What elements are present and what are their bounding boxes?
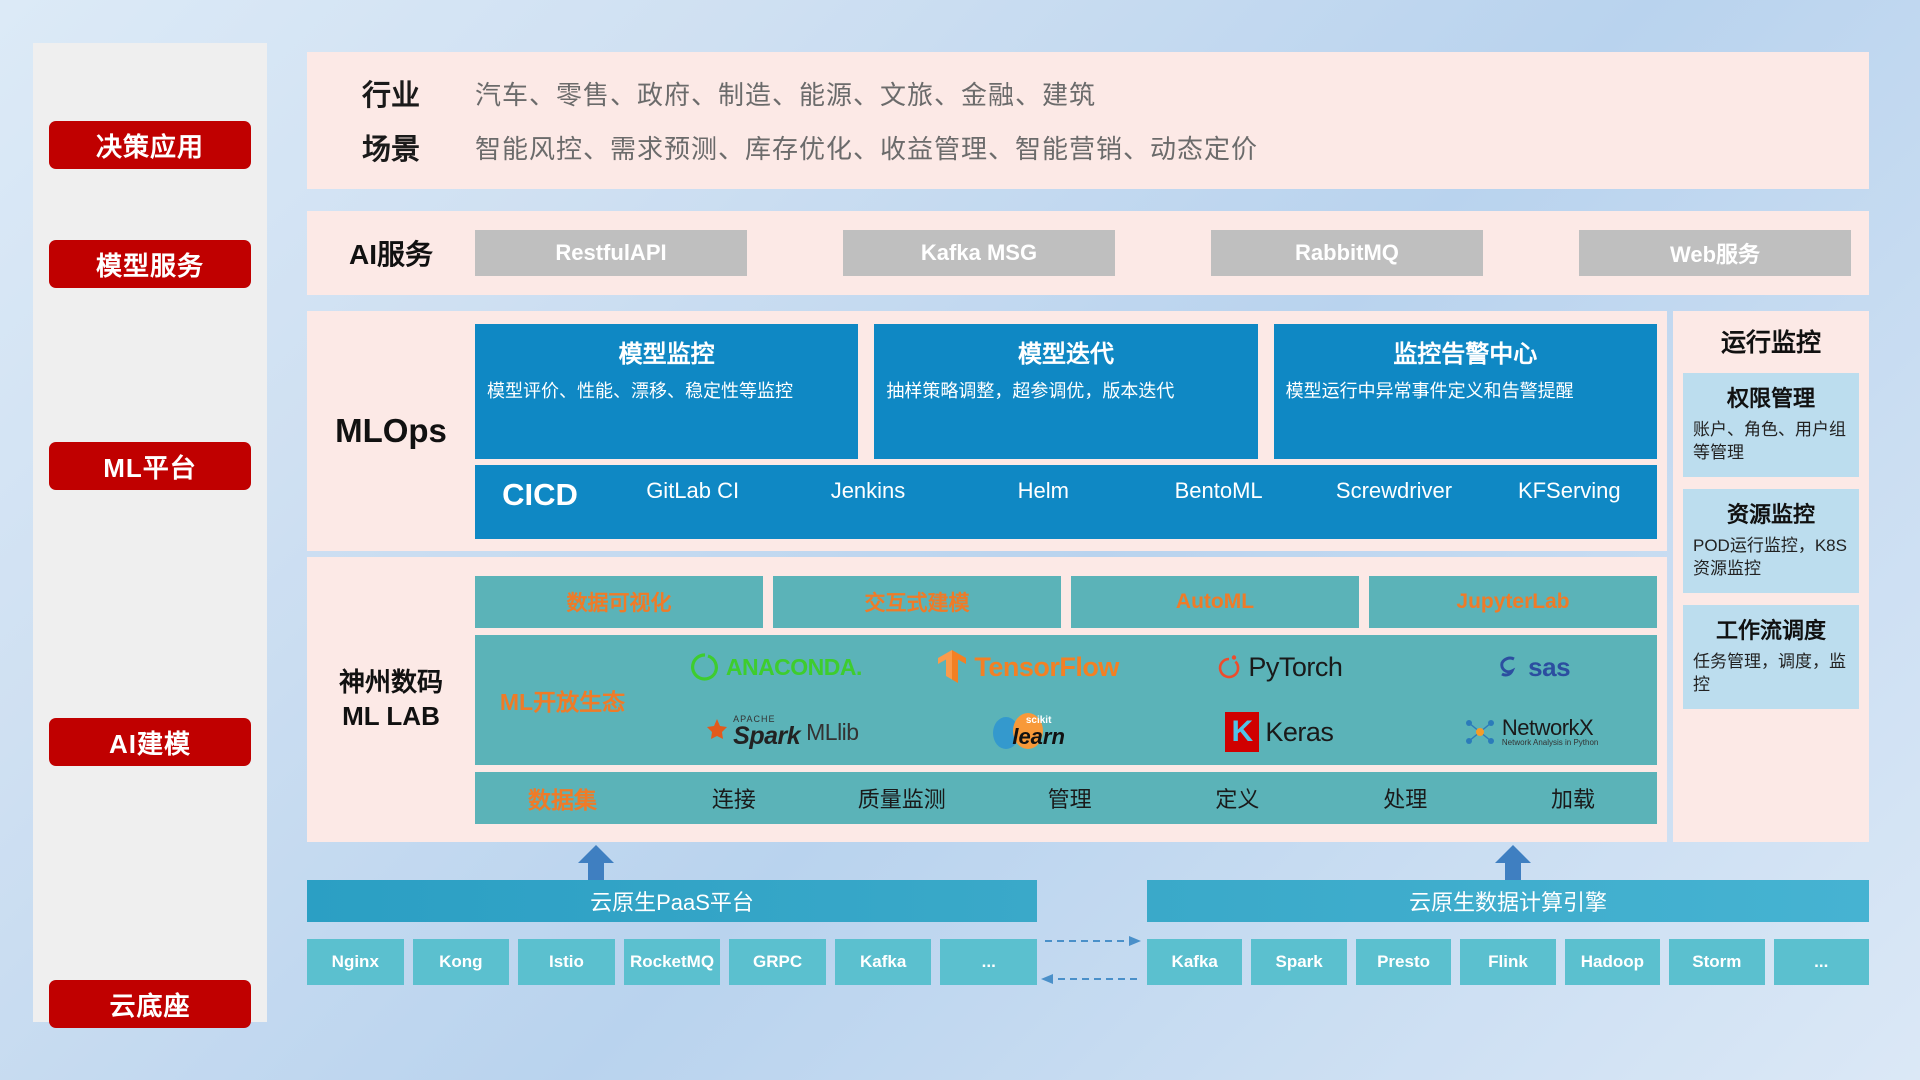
industry-scenario-band: 行业 汽车、零售、政府、制造、能源、文旅、金融、建筑 场景 智能风控、需求预测、… (307, 52, 1869, 189)
compute-chip-kafka[interactable]: Kafka (1147, 939, 1242, 985)
cicd-tool-helm[interactable]: Helm (956, 477, 1131, 505)
stage-chip-decision-app[interactable]: 决策应用 (49, 121, 251, 169)
cicd-bar: CICD GitLab CI Jenkins Helm BentoML Scre… (475, 465, 1657, 539)
mlops-card-model-monitoring[interactable]: 模型监控 模型评价、性能、漂移、稳定性等监控 (475, 324, 858, 459)
pytorch-icon (1216, 652, 1242, 682)
card-title: 权限管理 (1693, 381, 1849, 413)
cicd-tool-list: GitLab CI Jenkins Helm BentoML Screwdriv… (605, 477, 1657, 505)
paas-chip-rocketmq[interactable]: RocketMQ (624, 939, 721, 985)
ml-lab-label-line2: ML LAB (307, 700, 475, 734)
mlops-band: MLOps 模型监控 模型评价、性能、漂移、稳定性等监控 模型迭代 抽样策略调整… (307, 311, 1667, 551)
diagram-canvas: 决策应用 模型服务 ML平台 AI建模 云底座 行业 汽车、零售、政府、制造、能… (0, 0, 1920, 1080)
cicd-tool-jenkins[interactable]: Jenkins (780, 477, 955, 505)
ml-lab-body: 数据可视化 交互式建模 AutoML JupyterLab ML开放生态 (475, 576, 1667, 824)
tensorflow-icon (936, 649, 968, 685)
stage-chip-ai-modeling[interactable]: AI建模 (49, 718, 251, 766)
ai-service-rabbitmq[interactable]: RabbitMQ (1211, 230, 1483, 276)
paas-header: 云原生PaaS平台 (307, 880, 1037, 922)
dataset-item-quality-monitor[interactable]: 质量监测 (818, 782, 986, 814)
dataset-item-connect[interactable]: 连接 (650, 782, 818, 814)
mlops-body: 模型监控 模型评价、性能、漂移、稳定性等监控 模型迭代 抽样策略调整，超参调优，… (475, 324, 1667, 539)
runtime-monitoring-panel: 运行监控 权限管理 账户、角色、用户组等管理 资源监控 POD运行监控，K8S资… (1673, 311, 1869, 842)
cicd-tool-screwdriver[interactable]: Screwdriver (1306, 477, 1481, 505)
industry-row: 行业 汽车、零售、政府、制造、能源、文旅、金融、建筑 (307, 66, 1869, 120)
paas-platform-group: 云原生PaaS平台 Nginx Kong Istio RocketMQ GRPC… (307, 880, 1037, 985)
paas-chip-list: Nginx Kong Istio RocketMQ GRPC Kafka ... (307, 939, 1037, 985)
logo-label: sas (1528, 652, 1570, 683)
logo-tensorflow: TensorFlow (936, 649, 1119, 685)
logo-label: ANACONDA. (726, 654, 862, 681)
compute-header: 云原生数据计算引擎 (1147, 880, 1869, 922)
compute-chip-presto[interactable]: Presto (1356, 939, 1451, 985)
cicd-tool-gitlab-ci[interactable]: GitLab CI (605, 477, 780, 505)
ai-services-band: AI服务 RestfulAPI Kafka MSG RabbitMQ Web服务 (307, 211, 1869, 295)
dataset-item-define[interactable]: 定义 (1153, 782, 1321, 814)
card-title: 工作流调度 (1693, 613, 1849, 645)
logo-label: Spark (733, 724, 800, 749)
card-desc: 抽样策略调整，超参调优，版本迭代 (886, 379, 1245, 403)
scenario-label: 场景 (307, 126, 475, 168)
logo-anaconda: ANACONDA. (690, 652, 862, 682)
spark-icon (693, 717, 727, 747)
card-title: 模型监控 (487, 334, 846, 369)
monitor-card-resource[interactable]: 资源监控 POD运行监控，K8S资源监控 (1683, 489, 1859, 593)
card-title: 监控告警中心 (1286, 334, 1645, 369)
card-title: 资源监控 (1693, 497, 1849, 529)
ai-service-restfulapi[interactable]: RestfulAPI (475, 230, 747, 276)
data-compute-engine-group: 云原生数据计算引擎 Kafka Spark Presto Flink Hadoo… (1147, 880, 1869, 985)
cicd-tool-bentoml[interactable]: BentoML (1131, 477, 1306, 505)
stage-rail: 决策应用 模型服务 ML平台 AI建模 云底座 (33, 43, 267, 1022)
ml-ecosystem-label: ML开放生态 (475, 683, 650, 717)
scenario-values: 智能风控、需求预测、库存优化、收益管理、智能营销、动态定价 (475, 129, 1258, 166)
mlops-card-list: 模型监控 模型评价、性能、漂移、稳定性等监控 模型迭代 抽样策略调整，超参调优，… (475, 324, 1657, 459)
ml-lab-label: 神州数码 ML LAB (307, 666, 475, 734)
compute-chip-hadoop[interactable]: Hadoop (1565, 939, 1660, 985)
ml-ecosystem-strip: ML开放生态 ANACONDA. (475, 635, 1657, 765)
logo-pytorch: PyTorch (1216, 652, 1342, 683)
mllib-label: MLlib (806, 719, 858, 746)
paas-chip-istio[interactable]: Istio (518, 939, 615, 985)
cloud-foundation-band: 云原生PaaS平台 Nginx Kong Istio RocketMQ GRPC… (307, 880, 1869, 1030)
card-title: 模型迭代 (886, 334, 1245, 369)
compute-chip-list: Kafka Spark Presto Flink Hadoop Storm ..… (1147, 939, 1869, 985)
logo-networkx: NetworkX Network Analysis in Python (1464, 716, 1599, 747)
ai-service-kafka-msg[interactable]: Kafka MSG (843, 230, 1115, 276)
dataset-label: 数据集 (475, 781, 650, 815)
stage-chip-model-service[interactable]: 模型服务 (49, 240, 251, 288)
ml-lab-tool-list: 数据可视化 交互式建模 AutoML JupyterLab (475, 576, 1657, 628)
industry-label: 行业 (307, 72, 475, 114)
industry-values: 汽车、零售、政府、制造、能源、文旅、金融、建筑 (475, 75, 1096, 112)
scenario-row: 场景 智能风控、需求预测、库存优化、收益管理、智能营销、动态定价 (307, 120, 1869, 174)
ml-tool-data-visualization[interactable]: 数据可视化 (475, 576, 763, 628)
logo-keras: K Keras (1225, 712, 1333, 752)
card-desc: 账户、角色、用户组等管理 (1693, 419, 1849, 465)
card-desc: 任务管理，调度，监控 (1693, 651, 1849, 697)
logo-sas: sas (1492, 652, 1570, 683)
stage-chip-ml-platform[interactable]: ML平台 (49, 442, 251, 490)
compute-chip-spark[interactable]: Spark (1251, 939, 1346, 985)
logo-label: NetworkX (1502, 716, 1593, 739)
ml-tool-interactive-modeling[interactable]: 交互式建模 (773, 576, 1061, 628)
logo-scikit-learn: scikit learn (990, 712, 1065, 752)
monitor-card-permission[interactable]: 权限管理 账户、角色、用户组等管理 (1683, 373, 1859, 477)
ai-services-label: AI服务 (307, 233, 475, 273)
runtime-monitoring-title: 运行监控 (1683, 323, 1859, 359)
mlops-label: MLOps (307, 412, 475, 450)
anaconda-icon (690, 652, 720, 682)
compute-chip-storm[interactable]: Storm (1669, 939, 1764, 985)
ml-lab-label-line1: 神州数码 (307, 666, 475, 700)
main-column: 行业 汽车、零售、政府、制造、能源、文旅、金融、建筑 场景 智能风控、需求预测、… (301, 0, 1871, 1080)
ai-service-web[interactable]: Web服务 (1579, 230, 1851, 276)
card-desc: 模型评价、性能、漂移、稳定性等监控 (487, 379, 846, 403)
sas-icon (1492, 652, 1522, 682)
logo-label: PyTorch (1248, 652, 1342, 683)
dataset-item-process[interactable]: 处理 (1321, 782, 1489, 814)
logo-label: learn (1012, 726, 1065, 748)
card-desc: 模型运行中异常事件定义和告警提醒 (1286, 379, 1645, 403)
ml-lab-band: 神州数码 ML LAB 数据可视化 交互式建模 AutoML JupyterLa… (307, 557, 1667, 842)
ml-ecosystem-logos: ANACONDA. TensorFlow (650, 635, 1657, 765)
ml-tool-automl[interactable]: AutoML (1071, 576, 1359, 628)
keras-icon: K (1225, 712, 1259, 752)
cicd-tool-kfserving[interactable]: KFServing (1482, 477, 1657, 505)
monitor-card-workflow[interactable]: 工作流调度 任务管理，调度，监控 (1683, 605, 1859, 709)
networkx-icon (1464, 717, 1496, 747)
card-desc: POD运行监控，K8S资源监控 (1693, 535, 1849, 581)
paas-chip-kafka[interactable]: Kafka (835, 939, 932, 985)
paas-chip-nginx[interactable]: Nginx (307, 939, 404, 985)
dataset-item-list: 连接 质量监测 管理 定义 处理 加载 (650, 782, 1657, 814)
dataset-item-manage[interactable]: 管理 (986, 782, 1154, 814)
ai-services-list: RestfulAPI Kafka MSG RabbitMQ Web服务 (475, 230, 1869, 276)
stage-chip-cloud-base[interactable]: 云底座 (49, 980, 251, 1028)
logo-label: Keras (1265, 717, 1333, 748)
paas-chip-more[interactable]: ... (940, 939, 1037, 985)
paas-chip-grpc[interactable]: GRPC (729, 939, 826, 985)
logo-spark-mllib: APACHE Spark MLlib (693, 715, 858, 749)
mlops-card-alert-center[interactable]: 监控告警中心 模型运行中异常事件定义和告警提醒 (1274, 324, 1657, 459)
ml-tool-jupyterlab[interactable]: JupyterLab (1369, 576, 1657, 628)
cicd-title: CICD (475, 477, 605, 513)
paas-chip-kong[interactable]: Kong (413, 939, 510, 985)
mlops-card-model-iteration[interactable]: 模型迭代 抽样策略调整，超参调优，版本迭代 (874, 324, 1257, 459)
logo-label: TensorFlow (974, 652, 1119, 683)
compute-chip-flink[interactable]: Flink (1460, 939, 1555, 985)
dataset-strip: 数据集 连接 质量监测 管理 定义 处理 加载 (475, 772, 1657, 824)
networkx-tagline: Network Analysis in Python (1502, 739, 1599, 747)
compute-chip-more[interactable]: ... (1774, 939, 1869, 985)
dataset-item-load[interactable]: 加载 (1489, 782, 1657, 814)
